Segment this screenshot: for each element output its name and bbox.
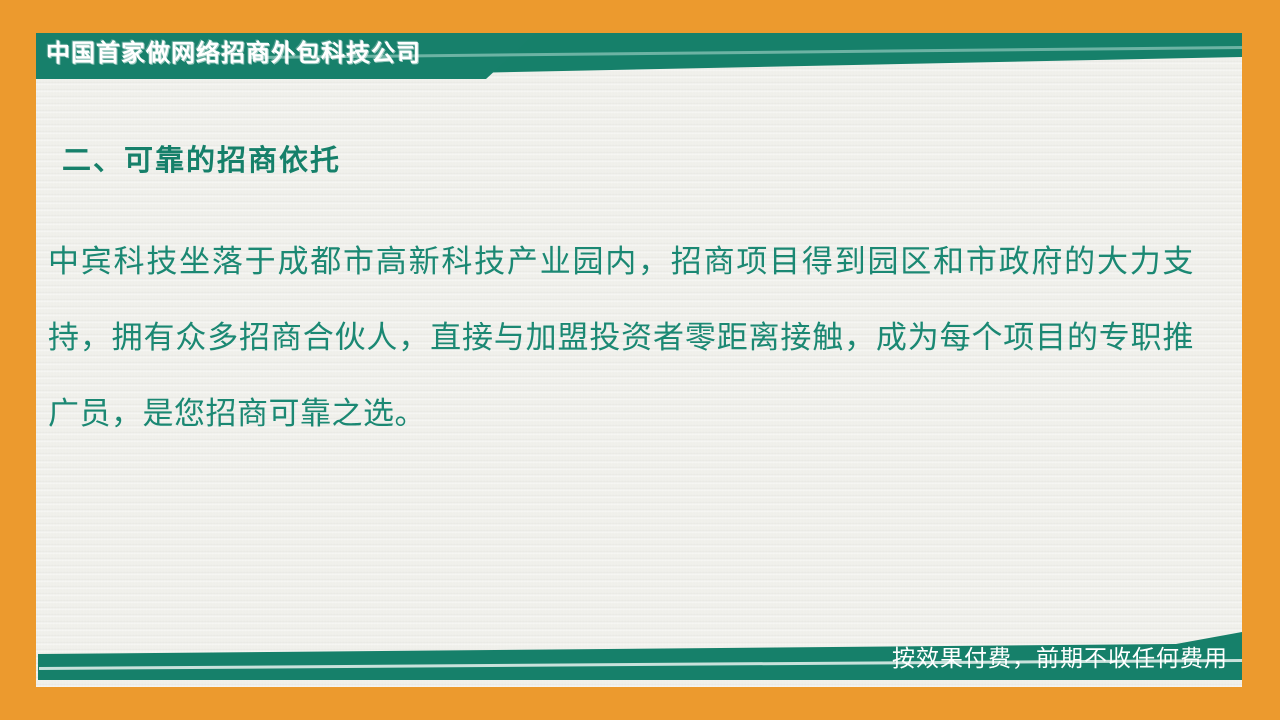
main-content: 二、可靠的招商依托 中宾科技坐落于成都市高新科技产业园内，招商项目得到园区和市政… bbox=[36, 79, 1242, 639]
section-heading: 二、可靠的招商依托 bbox=[62, 137, 341, 179]
header-title: 中国首家做网络招商外包科技公司 bbox=[46, 37, 421, 71]
slide-root: 中国首家做网络招商外包科技公司 二、可靠的招商依托 中宾科技坐落于成都市高新科技… bbox=[0, 0, 1280, 720]
body-paragraph: 中宾科技坐落于成都市高新科技产业园内，招商项目得到园区和市政府的大力支持，拥有众… bbox=[48, 224, 1194, 452]
footer-band: 按效果付费，前期不收任何费用 bbox=[36, 632, 1242, 687]
footer-slogan: 按效果付费，前期不收任何费用 bbox=[892, 641, 1228, 675]
header-band: 中国首家做网络招商外包科技公司 bbox=[36, 33, 1242, 79]
